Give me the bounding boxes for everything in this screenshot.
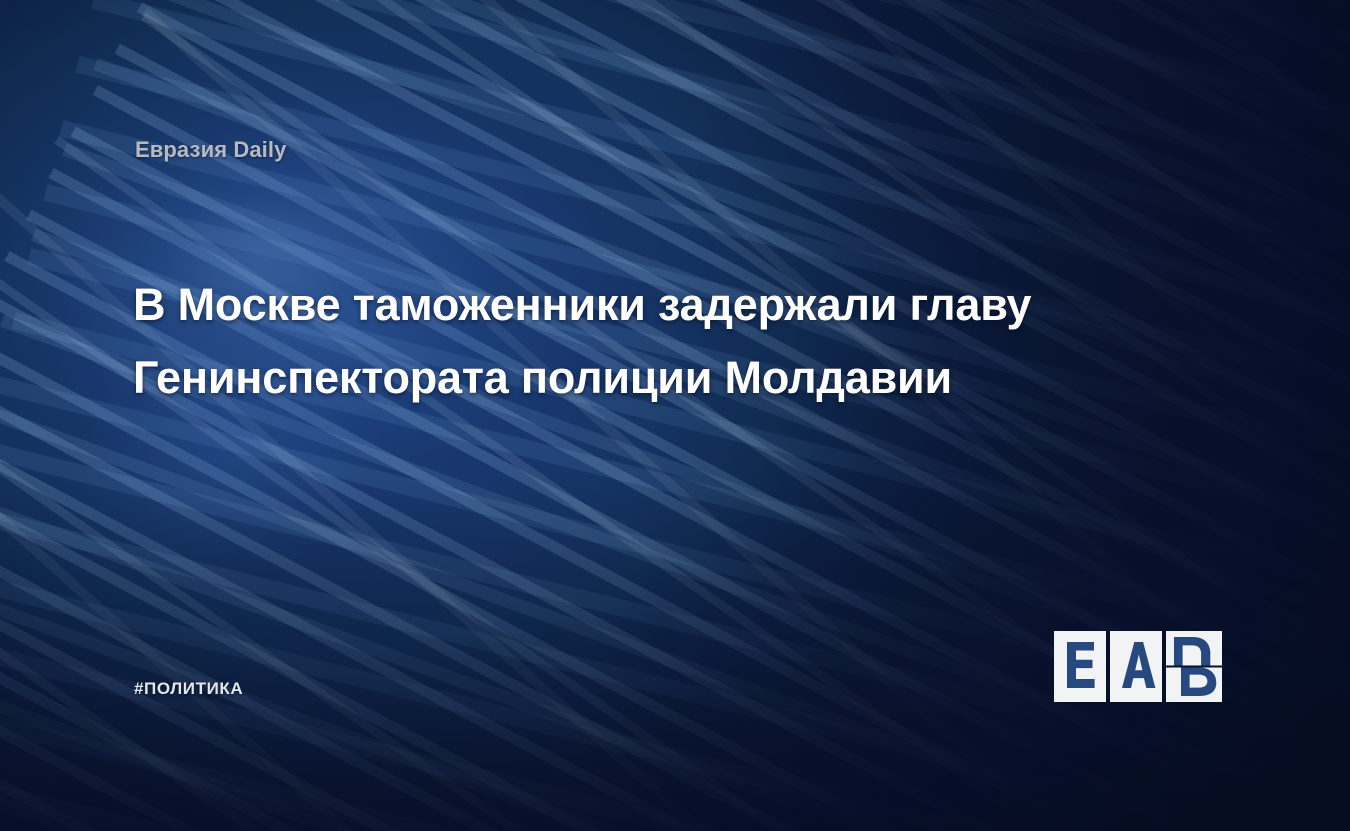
eadaily-logo[interactable] — [1054, 631, 1222, 702]
category-tag[interactable]: #ПОЛИТИКА — [134, 679, 243, 699]
news-card: Евразия Daily В Москве таможенники задер… — [0, 0, 1350, 831]
page-title: В Москве таможенники задержали главу Ген… — [133, 268, 1063, 414]
brand-name: Евразия Daily — [135, 137, 286, 163]
card-content: Евразия Daily В Москве таможенники задер… — [0, 0, 1350, 831]
